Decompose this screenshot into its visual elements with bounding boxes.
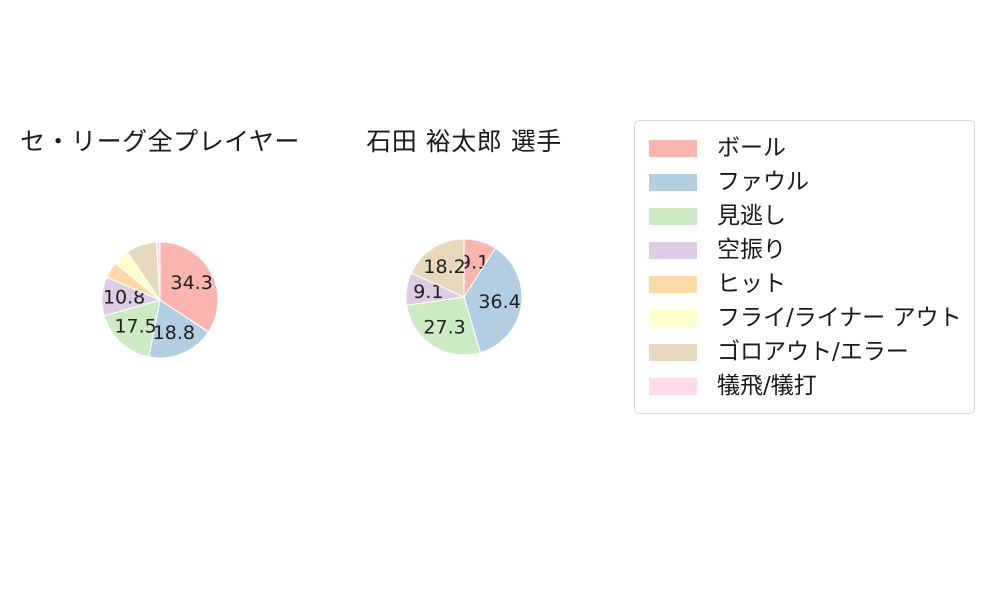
pie-slice-label: 36.4 <box>478 291 520 313</box>
legend-item-label: ファウル <box>717 171 809 194</box>
player-pie-title: 石田 裕太郎 選手 <box>314 122 614 158</box>
legend-item-label: 犠飛/犠打 <box>717 375 817 398</box>
legend-item-label: フライ/ライナー アウト <box>717 307 962 330</box>
legend-item[interactable]: 見逃し <box>649 199 960 233</box>
legend-item[interactable]: ボール <box>649 131 960 165</box>
pie-slice-label: 18.8 <box>153 322 195 344</box>
pie-chart-figure: セ・リーグ全プレイヤー 34.318.817.510.8 石田 裕太郎 選手 9… <box>0 0 1000 600</box>
legend-item[interactable]: ヒット <box>649 267 960 301</box>
pie-slice-label: 34.3 <box>171 272 213 294</box>
legend-item[interactable]: フライ/ライナー アウト <box>649 301 960 335</box>
legend-item[interactable]: 空振り <box>649 233 960 267</box>
legend-swatch-icon <box>649 208 697 225</box>
legend-swatch-icon <box>649 174 697 191</box>
legend-item[interactable]: ファウル <box>649 165 960 199</box>
legend-swatch-icon <box>649 242 697 259</box>
legend-swatch-icon <box>649 378 697 395</box>
player-pie-panel: 石田 裕太郎 選手 9.136.427.39.118.2 <box>314 110 614 410</box>
legend-swatch-icon <box>649 310 697 327</box>
legend-swatch-icon <box>649 140 697 157</box>
legend-item[interactable]: 犠飛/犠打 <box>649 369 960 403</box>
league-pie-panel: セ・リーグ全プレイヤー 34.318.817.510.8 <box>10 110 310 410</box>
pie-slice-label: 17.5 <box>114 315 156 337</box>
legend-item-label: ヒット <box>717 273 786 296</box>
pie-slice-label: 18.2 <box>423 256 465 278</box>
legend-item-label: 見逃し <box>717 205 786 228</box>
legend-item-label: ゴロアウト/エラー <box>717 341 909 364</box>
league-pie-title: セ・リーグ全プレイヤー <box>10 122 310 158</box>
player-pie-chart: 9.136.427.39.118.2 <box>314 170 614 410</box>
legend-item-label: 空振り <box>717 239 786 262</box>
legend-item[interactable]: ゴロアウト/エラー <box>649 335 960 369</box>
legend-list: ボールファウル見逃し空振りヒットフライ/ライナー アウトゴロアウト/エラー犠飛/… <box>649 131 960 403</box>
legend: ボールファウル見逃し空振りヒットフライ/ライナー アウトゴロアウト/エラー犠飛/… <box>634 120 975 414</box>
league-pie-chart: 34.318.817.510.8 <box>10 170 310 410</box>
legend-item-label: ボール <box>717 137 786 160</box>
pie-slice-label: 27.3 <box>423 316 465 338</box>
legend-swatch-icon <box>649 276 697 293</box>
legend-swatch-icon <box>649 344 697 361</box>
